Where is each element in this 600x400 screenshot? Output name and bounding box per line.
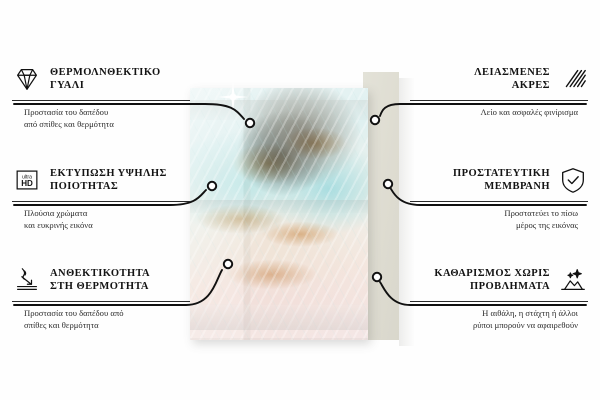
feature-title-line: ΚΑΘΑΡΙΣΜΟΣ ΧΩΡΙΣ xyxy=(434,267,550,280)
connector-dot-right-1 xyxy=(371,116,379,124)
feature-title: ΚΑΘΑΡΙΣΜΟΣ ΧΩΡΙΣ ΠΡΟΒΛΗΜΑΤΑ xyxy=(434,267,550,294)
feature-protective-membrane: ΠΡΟΣΤΑΤΕΥΤΙΚΗ ΜΕΜΒΡΑΝΗ Προστατεύει το πί… xyxy=(410,163,588,231)
feature-header: ΑΝΘΕΚΤΙΚΟΤΗΤΑ ΣΤΗ ΘΕΡΜΟΤΗΤΑ xyxy=(12,263,190,297)
feature-divider xyxy=(12,100,190,101)
infographic-canvas: ΘΕΡΜΟΛΝΘΕΚΤΙΚΟ ΓΥΑΛΙ Προστασία του δαπέδ… xyxy=(0,0,600,400)
connector-dot-right-2 xyxy=(384,180,392,188)
feature-heat-durability: ΑΝΘΕΚΤΙΚΟΤΗΤΑ ΣΤΗ ΘΕΡΜΟΤΗΤΑ Προστασία το… xyxy=(12,263,190,331)
svg-text:HD: HD xyxy=(21,179,33,188)
feature-polished-edges: ΛΕΙΑΣΜΕΝΕΣ ΑΚΡΕΣ Λείο και ασφαλές φινίρι… xyxy=(410,62,588,118)
feature-description: Προστασία του δαπέδου από σπίθες και θερ… xyxy=(12,106,190,130)
feature-title-line: ΣΤΗ ΘΕΡΜΟΤΗΤΑ xyxy=(50,280,150,293)
feature-heat-resistant-glass: ΘΕΡΜΟΛΝΘΕΚΤΙΚΟ ΓΥΑΛΙ Προστασία του δαπέδ… xyxy=(12,62,190,130)
easy-clean-sparkle-icon xyxy=(558,265,588,295)
feature-title-line: ΑΚΡΕΣ xyxy=(474,79,550,92)
feature-title: ΘΕΡΜΟΛΝΘΕΚΤΙΚΟ ΓΥΑΛΙ xyxy=(50,66,161,93)
connector-dot-left-1 xyxy=(246,119,254,127)
feature-title: ΕΚΤΥΠΩΣΗ ΥΨΗΛΗΣ ΠΟΙΟΤΗΤΑΣ xyxy=(50,167,167,194)
connector-dot-left-2 xyxy=(208,182,216,190)
feature-easy-cleaning: ΚΑΘΑΡΙΣΜΟΣ ΧΩΡΙΣ ΠΡΟΒΛΗΜΑΤΑ Η αιθάλη, η … xyxy=(410,263,588,331)
feature-description-line: μέρος της εικόνας xyxy=(410,219,578,231)
feature-description-line: και ευκρινής εικόνα xyxy=(24,219,190,231)
feature-description-line: Προστασία του δαπέδου xyxy=(24,106,190,118)
feature-title-line: ΘΕΡΜΟΛΝΘΕΚΤΙΚΟ xyxy=(50,66,161,79)
feature-description: Προστατεύει το πίσω μέρος της εικόνας xyxy=(410,207,588,231)
feature-description: Προστασία του δαπέδου από σπίθες και θερ… xyxy=(12,307,190,331)
feature-title: ΠΡΟΣΤΑΤΕΥΤΙΚΗ ΜΕΜΒΡΑΝΗ xyxy=(453,167,550,194)
connector-dot-right-3 xyxy=(373,273,381,281)
feature-divider xyxy=(410,201,588,202)
feature-title-line: ΠΟΙΟΤΗΤΑΣ xyxy=(50,180,167,193)
connector-dot-left-3 xyxy=(224,260,232,268)
feature-title-line: ΠΡΟΒΛΗΜΑΤΑ xyxy=(434,280,550,293)
feature-divider xyxy=(410,301,588,302)
feature-description-line: Η αιθάλη, η στάχτη ή άλλοι xyxy=(410,307,578,319)
feature-description-line: ρύποι μπορούν να αφαιρεθούν xyxy=(410,319,578,331)
feature-header: ultra HD ΕΚΤΥΠΩΣΗ ΥΨΗΛΗΣ ΠΟΙΟΤΗΤΑΣ xyxy=(12,163,190,197)
feature-description-line: Προστασία του δαπέδου από xyxy=(24,307,190,319)
feature-title-line: ΑΝΘΕΚΤΙΚΟΤΗΤΑ xyxy=(50,267,150,280)
feature-description-line: Λείο και ασφαλές φινίρισμα xyxy=(410,106,578,118)
feature-title: ΛΕΙΑΣΜΕΝΕΣ ΑΚΡΕΣ xyxy=(474,66,550,93)
feature-description: Πλούσια χρώματα και ευκρινής εικόνα xyxy=(12,207,190,231)
feature-title-line: ΕΚΤΥΠΩΣΗ ΥΨΗΛΗΣ xyxy=(50,167,167,180)
feature-divider xyxy=(12,201,190,202)
feature-header: ΠΡΟΣΤΑΤΕΥΤΙΚΗ ΜΕΜΒΡΑΝΗ xyxy=(410,163,588,197)
heat-resistance-icon xyxy=(12,265,42,295)
feature-header: ΚΑΘΑΡΙΣΜΟΣ ΧΩΡΙΣ ΠΡΟΒΛΗΜΑΤΑ xyxy=(410,263,588,297)
feature-header: ΘΕΡΜΟΛΝΘΕΚΤΙΚΟ ΓΥΑΛΙ xyxy=(12,62,190,96)
diamond-icon xyxy=(12,64,42,94)
feature-divider xyxy=(12,301,190,302)
feature-header: ΛΕΙΑΣΜΕΝΕΣ ΑΚΡΕΣ xyxy=(410,62,588,96)
feature-description: Η αιθάλη, η στάχτη ή άλλοι ρύποι μπορούν… xyxy=(410,307,588,331)
feature-divider xyxy=(410,100,588,101)
feature-title: ΑΝΘΕΚΤΙΚΟΤΗΤΑ ΣΤΗ ΘΕΡΜΟΤΗΤΑ xyxy=(50,267,150,294)
feature-description: Λείο και ασφαλές φινίρισμα xyxy=(410,106,588,118)
feature-description-line: Πλούσια χρώματα xyxy=(24,207,190,219)
ultra-hd-icon: ultra HD xyxy=(12,165,42,195)
feature-description-line: σπίθες και θερμότητα xyxy=(24,319,190,331)
feature-title-line: ΜΕΜΒΡΑΝΗ xyxy=(453,180,550,193)
polished-edges-icon xyxy=(558,64,588,94)
feature-description-line: από σπίθες και θερμότητα xyxy=(24,118,190,130)
feature-title-line: ΓΥΑΛΙ xyxy=(50,79,161,92)
feature-title-line: ΠΡΟΣΤΑΤΕΥΤΙΚΗ xyxy=(453,167,550,180)
shield-check-icon xyxy=(558,165,588,195)
feature-description-line: Προστατεύει το πίσω xyxy=(410,207,578,219)
feature-title-line: ΛΕΙΑΣΜΕΝΕΣ xyxy=(474,66,550,79)
feature-high-quality-print: ultra HD ΕΚΤΥΠΩΣΗ ΥΨΗΛΗΣ ΠΟΙΟΤΗΤΑΣ Πλούσ… xyxy=(12,163,190,231)
